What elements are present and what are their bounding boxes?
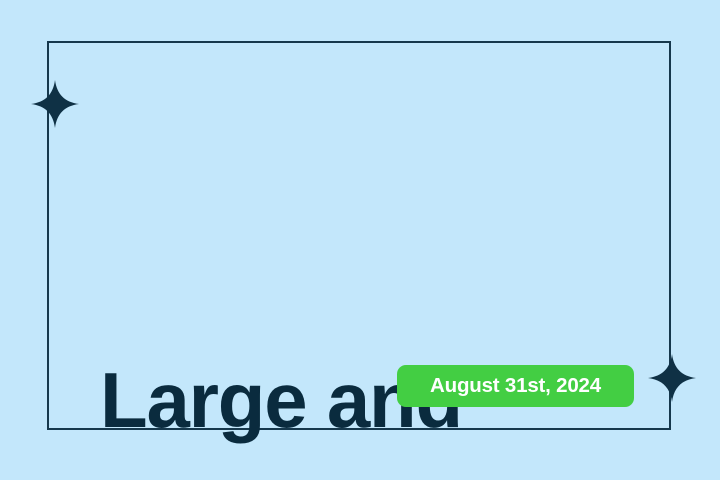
title-slide: Large and Midcap August 31st, 2024 — [0, 0, 720, 480]
sparkle-icon — [648, 354, 696, 402]
date-badge: August 31st, 2024 — [397, 365, 634, 407]
date-badge-label: August 31st, 2024 — [430, 376, 601, 397]
page-title: Large and Midcap — [100, 118, 640, 480]
sparkle-icon — [31, 80, 79, 128]
